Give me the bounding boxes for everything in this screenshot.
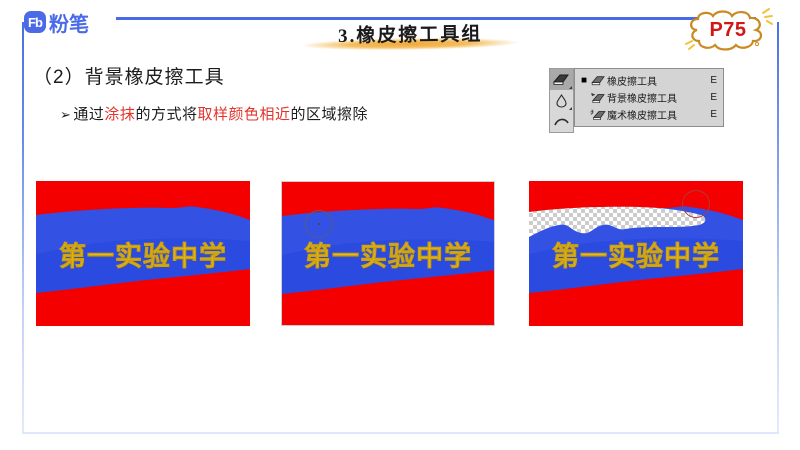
- menu-selected-marker-icon: ■: [579, 77, 589, 85]
- sample-caption: 第一实验中学: [529, 234, 743, 273]
- frame-border-right: [777, 22, 779, 434]
- sample-image-erased: 第一实验中学: [529, 181, 743, 326]
- page-badge: P75: [683, 8, 773, 52]
- water-drop-icon: [556, 94, 567, 108]
- bullet-marker-icon: ➢: [60, 107, 71, 122]
- section-heading: （2）背景橡皮擦工具: [33, 62, 225, 89]
- brush-cursor-icon: [305, 210, 333, 238]
- photoshop-flyout-menu[interactable]: ■ 橡皮擦工具 E: [574, 68, 724, 127]
- frame-border-left: [22, 22, 24, 434]
- bullet-text-part-5: 的区域擦除: [290, 106, 368, 123]
- photoshop-tool-flyout[interactable]: ■ 橡皮擦工具 E: [549, 68, 724, 133]
- toolbar-blur-tool-icon[interactable]: [550, 90, 573, 111]
- bullet-text-part-3: 的方式将: [135, 106, 197, 123]
- bullet-text-part-1: 通过: [73, 106, 104, 123]
- menu-item-label: 背景橡皮擦工具: [607, 90, 703, 105]
- toolbar-eraser-tool-icon[interactable]: [550, 69, 573, 90]
- menu-item-label: 魔术橡皮擦工具: [607, 107, 703, 122]
- slide-title-text: 3.橡皮擦工具组: [338, 19, 483, 48]
- menu-item-magic-eraser-tool[interactable]: 魔术橡皮擦工具 E: [575, 106, 723, 123]
- sample-caption: 第一实验中学: [282, 234, 494, 273]
- menu-item-eraser-tool[interactable]: ■ 橡皮擦工具 E: [575, 72, 723, 89]
- bullet-line: ➢通过涂抹的方式将取样颜色相近的区域擦除: [60, 103, 368, 124]
- frame-border-bottom: [22, 432, 779, 434]
- eraser-icon: [553, 73, 570, 86]
- brand-logo-mark: Fb: [24, 11, 46, 33]
- slide-canvas: Fb 粉笔 3.橡皮擦工具组 P75 （2）背景橡皮擦工具 ➢通过涂抹的方式将取…: [0, 0, 800, 450]
- toolbar-dodge-tool-icon[interactable]: [550, 111, 573, 132]
- tool-expand-corner-icon: [569, 86, 572, 89]
- menu-item-label: 橡皮擦工具: [607, 73, 703, 88]
- bullet-highlight-sampled-color: 取样颜色相近: [197, 106, 290, 123]
- brand-logo: Fb 粉笔: [24, 10, 89, 34]
- brush-cursor-icon: [682, 190, 710, 218]
- slide-title: 3.橡皮擦工具组: [300, 20, 520, 52]
- tool-expand-corner-icon: [569, 107, 572, 110]
- dodge-icon: [554, 117, 569, 126]
- menu-item-shortcut: E: [703, 75, 717, 86]
- eraser-icon: [589, 75, 607, 86]
- brand-logo-text: 粉笔: [49, 8, 89, 37]
- bullet-highlight-smudge: 涂抹: [104, 106, 135, 123]
- sample-image-with-brush-cursor: 第一实验中学: [281, 181, 495, 326]
- menu-item-shortcut: E: [703, 109, 717, 120]
- photoshop-toolbar-strip[interactable]: [549, 68, 574, 133]
- menu-item-background-eraser-tool[interactable]: 背景橡皮擦工具 E: [575, 89, 723, 106]
- menu-item-shortcut: E: [703, 92, 717, 103]
- magic-eraser-icon: [589, 109, 607, 121]
- page-badge-label: P75: [683, 8, 773, 52]
- background-eraser-icon: [589, 92, 607, 104]
- sample-caption: 第一实验中学: [36, 234, 250, 273]
- sample-image-original: 第一实验中学: [36, 181, 250, 326]
